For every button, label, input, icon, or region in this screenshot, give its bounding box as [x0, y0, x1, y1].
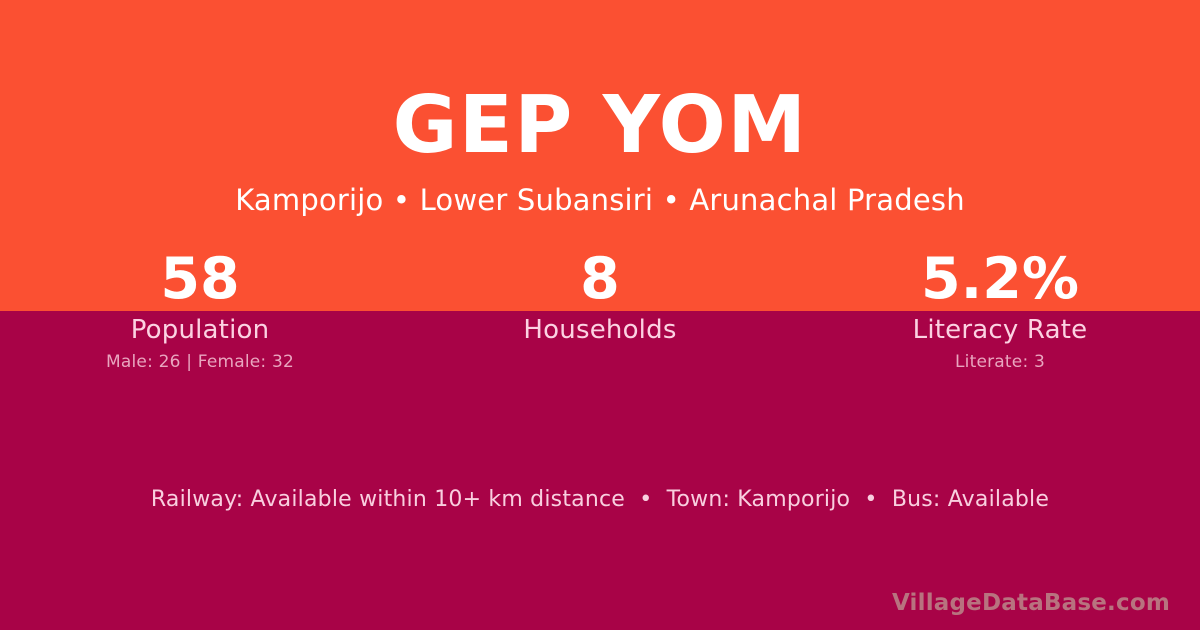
stat-households-breakdown: [400, 350, 800, 374]
village-info-card: GEP YOM Kamporijo • Lower Subansiri • Ar…: [0, 0, 1200, 630]
stat-literacy-rate: 5.2% Literacy Rate Literate: 3: [800, 246, 1200, 374]
stat-households-value: 8: [400, 246, 800, 312]
amenity-railway: Railway: Available within 10+ km distanc…: [151, 487, 625, 512]
breadcrumb: Kamporijo • Lower Subansiri • Arunachal …: [0, 181, 1200, 219]
amenity-separator-icon: •: [857, 485, 884, 515]
page-title: GEP YOM: [0, 78, 1200, 172]
amenity-separator-icon: •: [632, 485, 659, 515]
stat-population-breakdown: Male: 26 | Female: 32: [0, 350, 400, 374]
amenity-bus: Bus: Available: [892, 487, 1049, 512]
stat-population-value: 58: [0, 246, 400, 312]
stat-households: 8 Households: [400, 246, 800, 374]
stat-population-label: Population: [0, 313, 400, 347]
stat-literacy-rate-value: 5.2%: [800, 246, 1200, 312]
stats-row: 58 Population Male: 26 | Female: 32 8 Ho…: [0, 246, 1200, 374]
stat-population: 58 Population Male: 26 | Female: 32: [0, 246, 400, 374]
stat-households-label: Households: [400, 313, 800, 347]
site-branding: VillageDataBase.com: [892, 588, 1170, 618]
stat-literacy-rate-label: Literacy Rate: [800, 313, 1200, 347]
stat-literacy-rate-breakdown: Literate: 3: [800, 350, 1200, 374]
amenity-nearest-town: Town: Kamporijo: [667, 487, 851, 512]
amenities-summary: Railway: Available within 10+ km distanc…: [0, 485, 1200, 515]
